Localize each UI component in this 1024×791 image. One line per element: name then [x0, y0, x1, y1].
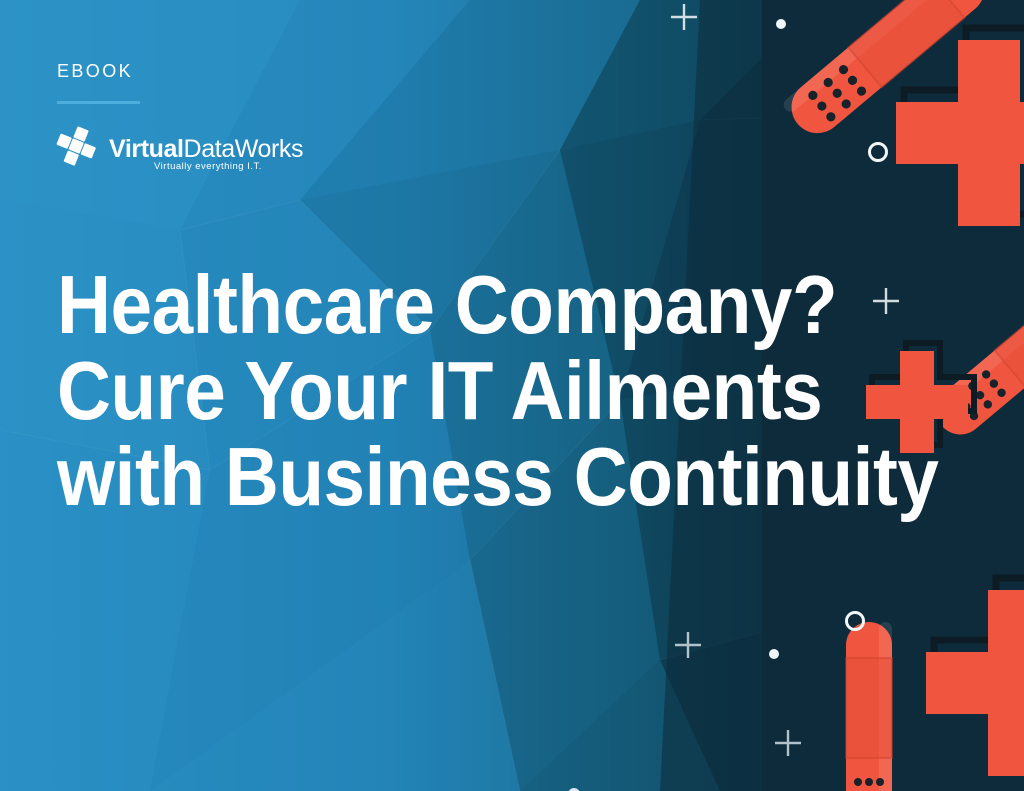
eyebrow-divider: [57, 101, 140, 104]
headline-line-3: with Business Continuity: [57, 434, 867, 520]
tilted-square-grid-mark-icon: [55, 126, 99, 170]
eyebrow-label: EBOOK: [57, 62, 133, 80]
brand-tagline: Virtually everything I.T.: [154, 161, 262, 172]
brand-name-bold: Virtual: [109, 135, 184, 163]
brand-name-light: DataWorks: [184, 135, 304, 163]
ebook-cover: EBOOK VirtualDataWorks Virtually everyth…: [0, 0, 1024, 791]
page-title: Healthcare Company? Cure Your IT Ailment…: [57, 262, 957, 520]
headline-line-1: Healthcare Company?: [57, 262, 867, 348]
headline-line-2: Cure Your IT Ailments: [57, 348, 867, 434]
